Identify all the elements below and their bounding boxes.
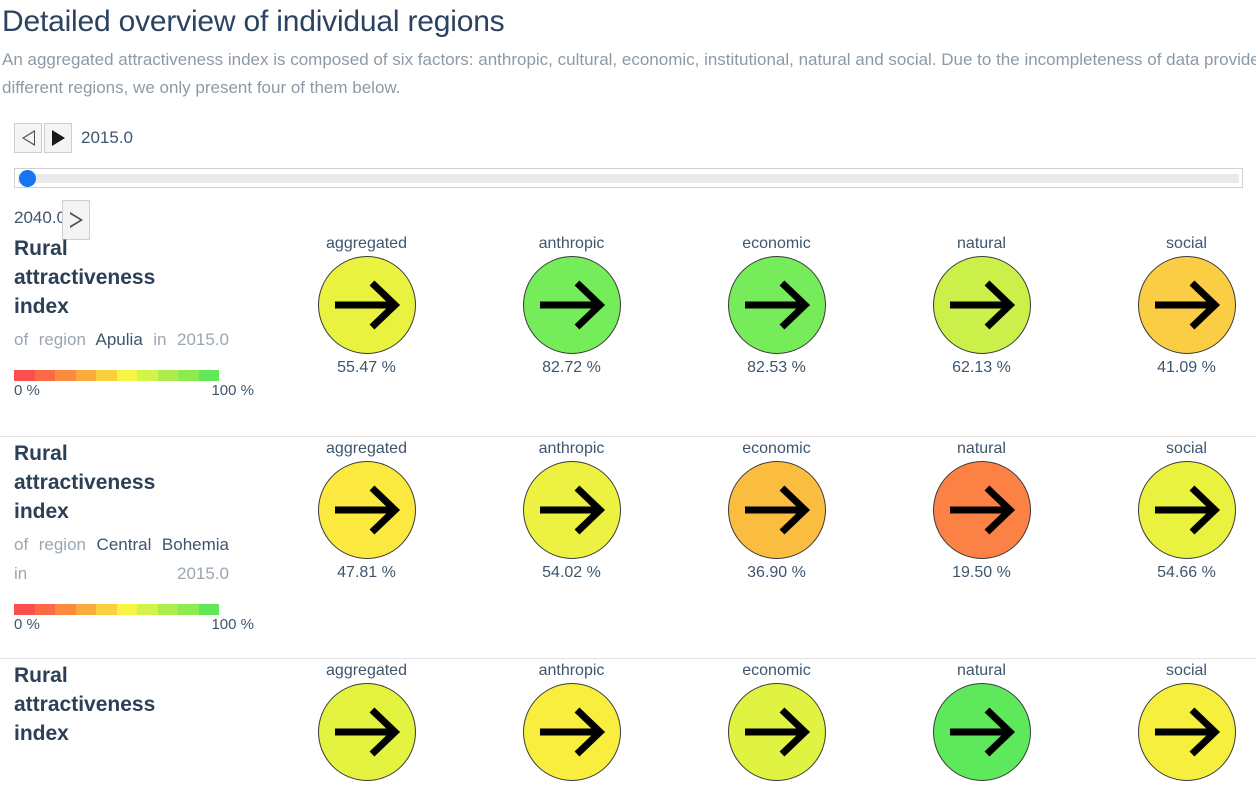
legend-segment	[14, 370, 35, 381]
triangle-right-outline-icon	[70, 212, 83, 228]
arrow-right-icon	[331, 277, 403, 333]
gauge-label: anthropic	[539, 234, 605, 254]
legend-gradient-bar	[14, 370, 219, 381]
slider-rail	[18, 174, 1239, 183]
gauge-value: 19.50 %	[952, 563, 1011, 583]
gauge-label: aggregated	[326, 439, 407, 459]
gauge-aggregated[interactable]: aggregated55.47 %	[264, 234, 469, 378]
end-year-value: 2040.0	[14, 208, 66, 228]
legend-min-label: 0 %	[14, 382, 40, 399]
arrow-right-icon	[741, 482, 813, 538]
legend-segment	[55, 370, 76, 381]
gauge-circle	[523, 683, 621, 781]
gauge-label: social	[1166, 661, 1207, 681]
arrow-right-icon	[331, 482, 403, 538]
gauge-anthropic[interactable]: anthropic54.02 %	[469, 439, 674, 583]
region-heading: Rural attractiveness index	[14, 439, 164, 526]
gauge-value: 41.09 %	[1157, 358, 1216, 378]
page-description: An aggregated attractiveness index is co…	[0, 40, 1256, 102]
gauge-circle	[523, 461, 621, 559]
year-slider[interactable]	[14, 168, 1243, 188]
gauge-natural[interactable]: natural	[879, 661, 1084, 781]
gauge-label: anthropic	[539, 439, 605, 459]
subtitle-region-word: region	[39, 535, 97, 554]
gauge-circle	[728, 461, 826, 559]
legend-segment	[117, 604, 138, 615]
region-name: Apulia	[96, 330, 154, 349]
legend-segment	[76, 604, 97, 615]
page-title: Detailed overview of individual regions	[0, 0, 1256, 40]
gauge-social[interactable]: social41.09 %	[1084, 234, 1256, 378]
gauge-economic[interactable]: economic36.90 %	[674, 439, 879, 583]
color-scale-legend: 0 %100 %	[14, 604, 219, 633]
legend-segment	[137, 604, 158, 615]
gauge-label: social	[1166, 439, 1207, 459]
legend-segment	[178, 604, 199, 615]
gauge-social[interactable]: social	[1084, 661, 1256, 781]
gauge-social[interactable]: social54.66 %	[1084, 439, 1256, 583]
gauge-circle	[1138, 461, 1236, 559]
gauge-value: 36.90 %	[747, 563, 806, 583]
gauge-circle	[933, 256, 1031, 354]
subtitle-of-word: of	[14, 535, 39, 554]
arrow-right-icon	[946, 704, 1018, 760]
legend-segment	[76, 370, 97, 381]
gauge-value: 55.47 %	[337, 358, 396, 378]
arrow-right-icon	[536, 277, 608, 333]
gauge-group: aggregatedanthropiceconomicnaturalsocial	[264, 659, 1256, 781]
slider-handle[interactable]	[19, 170, 36, 187]
legend-segment	[199, 370, 220, 381]
region-heading: Rural attractiveness index	[14, 661, 164, 748]
region-info: Rural attractiveness indexof region Apul…	[14, 232, 264, 399]
legend-segment	[199, 604, 220, 615]
gauge-label: aggregated	[326, 661, 407, 681]
gauge-anthropic[interactable]: anthropic	[469, 661, 674, 781]
page-root: Detailed overview of individual regions …	[0, 0, 1256, 787]
arrow-right-icon	[946, 277, 1018, 333]
gauge-circle	[1138, 256, 1236, 354]
arrow-right-icon	[1151, 704, 1223, 760]
gauge-natural[interactable]: natural62.13 %	[879, 234, 1084, 378]
gauge-circle	[1138, 683, 1236, 781]
legend-segment	[35, 370, 56, 381]
step-back-button[interactable]	[14, 123, 42, 153]
time-slider-control: 2015.0 2040.0	[0, 122, 1256, 232]
legend-segment	[178, 370, 199, 381]
legend-segment	[117, 370, 138, 381]
legend-min-label: 0 %	[14, 616, 40, 633]
subtitle-of-word: of	[14, 330, 39, 349]
subtitle-in-word: in	[14, 564, 177, 583]
legend-segment	[35, 604, 56, 615]
gauge-value: 82.53 %	[747, 358, 806, 378]
subtitle-region-word: region	[39, 330, 96, 349]
arrow-right-icon	[536, 482, 608, 538]
legend-segment	[137, 370, 158, 381]
arrow-right-icon	[536, 704, 608, 760]
legend-labels: 0 %100 %	[14, 382, 254, 399]
legend-segment	[14, 604, 35, 615]
legend-segment	[158, 370, 179, 381]
gauge-circle	[318, 683, 416, 781]
arrow-right-icon	[1151, 482, 1223, 538]
gauge-economic[interactable]: economic	[674, 661, 879, 781]
region-row: Rural attractiveness indexof region Cent…	[0, 437, 1256, 659]
gauge-label: natural	[957, 661, 1006, 681]
legend-segment	[55, 604, 76, 615]
gauge-label: aggregated	[326, 234, 407, 254]
gauge-circle	[728, 683, 826, 781]
gauge-label: economic	[742, 439, 810, 459]
arrow-right-icon	[946, 482, 1018, 538]
region-name: Central Bohemia	[97, 535, 229, 554]
gauge-circle	[318, 461, 416, 559]
gauge-economic[interactable]: economic82.53 %	[674, 234, 879, 378]
gauge-anthropic[interactable]: anthropic82.72 %	[469, 234, 674, 378]
gauge-circle	[728, 256, 826, 354]
region-year: 2015.0	[177, 330, 229, 349]
current-year-value: 2015.0	[81, 123, 133, 153]
triangle-left-outline-icon	[22, 130, 35, 146]
gauge-label: economic	[742, 234, 810, 254]
gauge-value: 54.02 %	[542, 563, 601, 583]
gauge-value: 62.13 %	[952, 358, 1011, 378]
gauge-group: aggregated47.81 %anthropic54.02 %economi…	[264, 437, 1256, 583]
gauge-label: natural	[957, 439, 1006, 459]
region-subtitle: of region Apulia in 2015.0	[14, 325, 229, 354]
region-row: Rural attractiveness indexaggregatedanth…	[0, 659, 1256, 787]
arrow-right-icon	[741, 704, 813, 760]
gauge-aggregated[interactable]: aggregated47.81 %	[264, 439, 469, 583]
gauge-label: economic	[742, 661, 810, 681]
gauge-circle	[933, 461, 1031, 559]
arrow-right-icon	[331, 704, 403, 760]
gauge-circle	[523, 256, 621, 354]
region-subtitle: of region Central Bohemia in 2015.0	[14, 530, 229, 588]
gauge-value: 47.81 %	[337, 563, 396, 583]
arrow-right-icon	[741, 277, 813, 333]
legend-segment	[158, 604, 179, 615]
legend-labels: 0 %100 %	[14, 616, 254, 633]
triangle-right-filled-icon	[52, 130, 65, 146]
region-info: Rural attractiveness index	[14, 659, 264, 748]
arrow-right-icon	[1151, 277, 1223, 333]
gauge-circle	[318, 256, 416, 354]
playback-controls: 2015.0	[14, 122, 1256, 154]
regions-list: Rural attractiveness indexof region Apul…	[0, 232, 1256, 787]
legend-segment	[96, 370, 117, 381]
gauge-label: anthropic	[539, 661, 605, 681]
gauge-label: natural	[957, 234, 1006, 254]
region-info: Rural attractiveness indexof region Cent…	[14, 437, 264, 633]
gauge-value: 54.66 %	[1157, 563, 1216, 583]
gauge-value: 82.72 %	[542, 358, 601, 378]
color-scale-legend: 0 %100 %	[14, 370, 219, 399]
play-button[interactable]	[44, 123, 72, 153]
legend-segment	[96, 604, 117, 615]
subtitle-in-word: in	[153, 330, 177, 349]
gauge-label: social	[1166, 234, 1207, 254]
gauge-group: aggregated55.47 %anthropic82.72 %economi…	[264, 232, 1256, 378]
gauge-aggregated[interactable]: aggregated	[264, 661, 469, 781]
region-heading: Rural attractiveness index	[14, 234, 164, 321]
legend-max-label: 100 %	[211, 616, 254, 633]
legend-gradient-bar	[14, 604, 219, 615]
legend-max-label: 100 %	[211, 382, 254, 399]
gauge-circle	[933, 683, 1031, 781]
region-year: 2015.0	[177, 564, 229, 583]
region-row: Rural attractiveness indexof region Apul…	[0, 232, 1256, 437]
gauge-natural[interactable]: natural19.50 %	[879, 439, 1084, 583]
